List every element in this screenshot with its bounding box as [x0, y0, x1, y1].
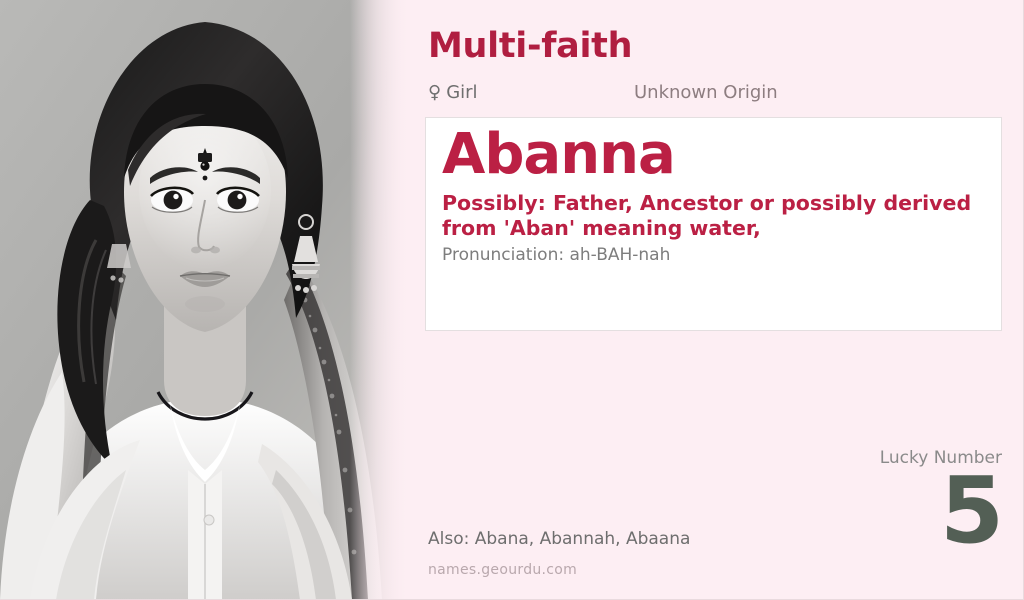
lucky-number-value: 5 — [880, 469, 1002, 554]
portrait-illustration — [0, 0, 410, 600]
meta-row: ♀Girl Unknown Origin — [428, 82, 1008, 106]
name-meaning: Possibly: Father, Ancestor or possibly d… — [442, 191, 982, 241]
alternate-spellings: Also: Abana, Abannah, Abaana — [428, 529, 690, 549]
venus-female-icon: ♀ — [428, 82, 441, 103]
name-title: Abanna — [442, 126, 675, 185]
name-detail-card: Abanna Possibly: Father, Ancestor or pos… — [425, 117, 1002, 331]
name-info-card: Multi-faith ♀Girl Unknown Origin Abanna … — [0, 0, 1024, 600]
gender-block: ♀Girl — [428, 82, 478, 103]
portrait-image — [0, 0, 410, 600]
lucky-number-block: Lucky Number 5 — [880, 450, 1002, 554]
gender-label: Girl — [446, 82, 477, 103]
info-panel: Multi-faith ♀Girl Unknown Origin Abanna … — [410, 0, 1024, 600]
origin-label: Unknown Origin — [634, 82, 778, 103]
faith-title: Multi-faith — [428, 26, 632, 66]
site-attribution: names.geourdu.com — [428, 562, 577, 578]
name-pronunciation: Pronunciation: ah-BAH-nah — [442, 245, 670, 265]
